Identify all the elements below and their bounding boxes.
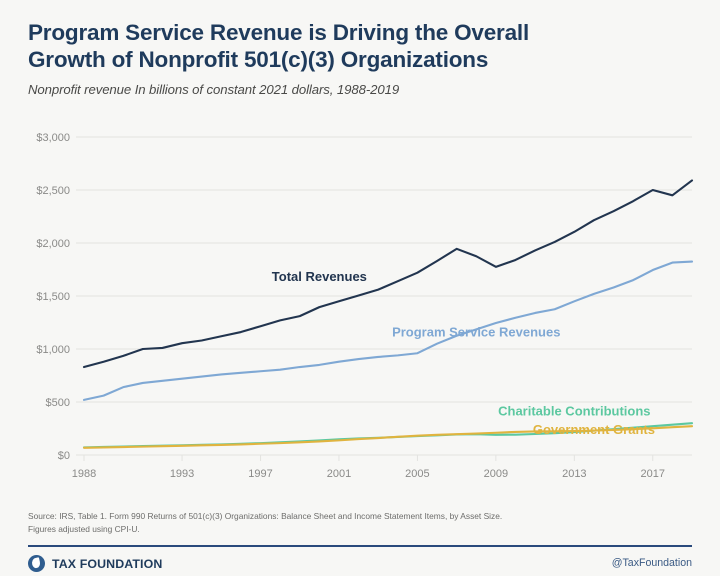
chart-subtitle: Nonprofit revenue In billions of constan…: [28, 82, 688, 97]
x-axis-tick-label: 2009: [484, 468, 508, 480]
tax-foundation-logo-icon: [28, 555, 45, 572]
series-label: Charitable Contributions: [498, 403, 650, 418]
y-axis-tick-label: $2,000: [36, 238, 70, 250]
x-axis-tick-label: 1997: [248, 468, 272, 480]
series-line: [84, 180, 692, 367]
y-axis-tick-label: $0: [58, 450, 70, 462]
social-handle: @TaxFoundation: [612, 557, 692, 569]
line-chart-svg: $0$500$1,000$1,500$2,000$2,500$3,000 198…: [0, 120, 720, 480]
y-axis-tick-label: $1,500: [36, 291, 70, 303]
brand-lockup: TAX FOUNDATION: [28, 555, 162, 572]
y-axis-tick-label: $2,500: [36, 185, 70, 197]
y-axis-tick-label: $500: [46, 397, 70, 409]
footer-divider: [28, 545, 692, 547]
x-axis-tick-label: 1988: [72, 468, 96, 480]
chart-header: Program Service Revenue is Driving the O…: [28, 20, 688, 97]
x-axis-tick-labels: 19881993199720012005200920132017: [72, 468, 665, 480]
series-label: Program Service Revenues: [392, 324, 560, 339]
y-axis-tick-labels: $0$500$1,000$1,500$2,000$2,500$3,000: [36, 132, 70, 462]
brand-name: TAX FOUNDATION: [52, 557, 162, 571]
series-inline-labels: Total RevenuesProgram Service RevenuesCh…: [272, 269, 655, 437]
x-axis-tick-label: 2017: [641, 468, 665, 480]
source-note: Source: IRS, Table 1. Form 990 Returns o…: [28, 510, 693, 536]
chart-footer: Source: IRS, Table 1. Form 990 Returns o…: [0, 505, 720, 576]
series-line: [84, 262, 692, 400]
x-axis-tick-label: 1993: [170, 468, 194, 480]
x-axis-tick-label: 2013: [562, 468, 586, 480]
y-axis-tick-label: $1,000: [36, 344, 70, 356]
y-axis-tick-label: $3,000: [36, 132, 70, 144]
series-label: Government Grants: [533, 422, 655, 437]
x-axis-tick-marks: [84, 455, 653, 461]
page-title: Program Service Revenue is Driving the O…: [28, 20, 688, 73]
x-axis-tick-label: 2001: [327, 468, 351, 480]
x-axis-tick-label: 2005: [405, 468, 429, 480]
series-label: Total Revenues: [272, 269, 367, 284]
chart-plot-area: $0$500$1,000$1,500$2,000$2,500$3,000 198…: [0, 120, 720, 480]
chart-page: Program Service Revenue is Driving the O…: [0, 0, 720, 576]
